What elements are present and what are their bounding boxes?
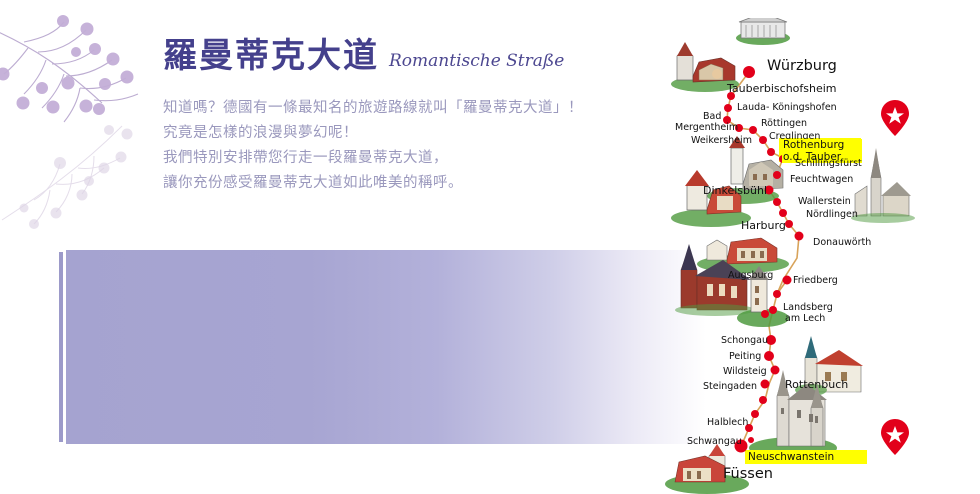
title-row: 羅曼蒂克大道 Romantische Straße bbox=[163, 36, 603, 76]
city-label-rottenbuch[interactable]: Rottenbuch bbox=[785, 378, 848, 391]
city-label-bad[interactable]: Bad bbox=[703, 111, 721, 122]
city-label-weikersheim[interactable]: Weikersheim bbox=[691, 135, 752, 146]
panel-left-stripe bbox=[59, 252, 63, 442]
city-label-lauda-koningshofen[interactable]: Lauda- Köningshofen bbox=[737, 102, 837, 113]
city-label-halblech[interactable]: Halblech bbox=[707, 417, 748, 428]
city-label-landsberg[interactable]: Landsberg bbox=[783, 302, 833, 313]
city-label-wurzburg[interactable]: Würzburg bbox=[767, 58, 837, 74]
city-label-peiting[interactable]: Peiting bbox=[729, 351, 761, 362]
wurzburg-illustration bbox=[736, 18, 790, 45]
city-label-tauberbischofsheim[interactable]: Tauberbischofsheim bbox=[727, 82, 837, 95]
city-label-nordlingen[interactable]: Nördlingen bbox=[806, 209, 858, 220]
city-label-wallerstein[interactable]: Wallerstein bbox=[798, 196, 851, 207]
intro-line-4: 讓你充份感受羅曼蒂克大道如此唯美的稱呼。 bbox=[163, 171, 603, 196]
city-label-rottingen[interactable]: Röttingen bbox=[761, 118, 807, 129]
city-label-augsburg[interactable]: Augsburg bbox=[728, 270, 773, 281]
city-label-dinkelsbuhl[interactable]: Dinkelsbühl bbox=[703, 184, 767, 197]
intro-text: 知道嗎？德國有一條最知名的旅遊路線就叫「羅曼蒂克大道」！ 究竟是怎樣的浪漫與夢幻… bbox=[163, 96, 603, 196]
city-label-schillingsfurst[interactable]: Schillingsfürst bbox=[795, 158, 862, 169]
romantic-road-map: Würzburg Tauberbischofsheim Lauda- Könin… bbox=[665, 18, 980, 494]
castle-road-panel: 古 堡 大 道 是一條由西向東延伸的旅遊路線，從曼罕為起點，沿著涅 卡河沿岸的古… bbox=[66, 250, 706, 444]
star-pin-neuschwanstein[interactable] bbox=[881, 419, 909, 455]
city-label-harburg[interactable]: Harburg bbox=[741, 219, 786, 232]
city-label-wildsteig[interactable]: Wildsteig bbox=[723, 366, 767, 377]
city-label-feuchtwagen[interactable]: Feuchtwagen bbox=[790, 174, 853, 185]
page-title: 羅曼蒂克大道 bbox=[163, 36, 379, 76]
page-header: 羅曼蒂克大道 Romantische Straße 知道嗎？德國有一條最知名的旅… bbox=[163, 36, 603, 196]
branch-decoration-icon bbox=[0, 8, 164, 238]
city-label-mergentheim[interactable]: Mergentheim bbox=[675, 122, 738, 133]
city-label-friedberg[interactable]: Friedberg bbox=[793, 275, 838, 286]
city-label-schongau[interactable]: Schongau bbox=[721, 335, 768, 346]
city-label-steingaden[interactable]: Steingaden bbox=[703, 381, 757, 392]
star-pin-rothenburg[interactable] bbox=[881, 100, 909, 136]
city-label-am-lech[interactable]: am Lech bbox=[785, 313, 825, 324]
page-subtitle: Romantische Straße bbox=[389, 51, 564, 76]
city-label-donauworth[interactable]: Donauwörth bbox=[813, 237, 871, 248]
city-label-schwangau[interactable]: Schwangau bbox=[687, 436, 742, 447]
page-root: 羅曼蒂克大道 Romantische Straße 知道嗎？德國有一條最知名的旅… bbox=[0, 0, 980, 494]
intro-line-3: 我們特別安排帶您行走一段羅曼蒂克大道， bbox=[163, 146, 603, 171]
city-label-neuschwanstein[interactable]: Neuschwanstein bbox=[747, 451, 835, 463]
intro-line-2: 究竟是怎樣的浪漫與夢幻呢！ bbox=[163, 121, 603, 146]
city-label-fussen[interactable]: Füssen bbox=[723, 466, 773, 482]
intro-line-1: 知道嗎？德國有一條最知名的旅遊路線就叫「羅曼蒂克大道」！ bbox=[163, 96, 603, 121]
